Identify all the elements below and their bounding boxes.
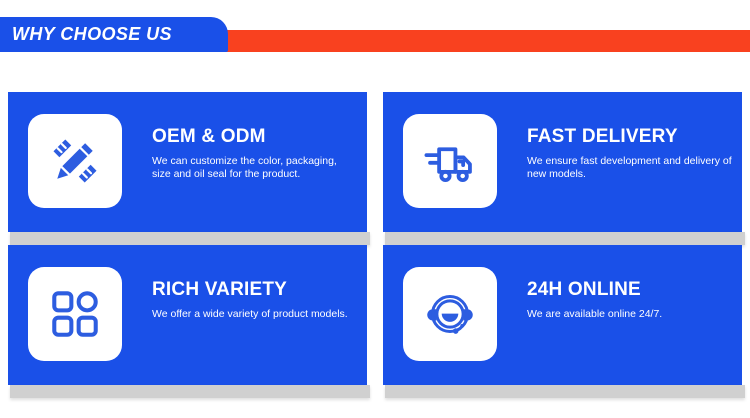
card-description: We are available online 24/7. [527, 308, 732, 321]
feature-card-rich-variety[interactable]: RICH VARIETY We offer a wide variety of … [8, 245, 367, 385]
delivery-truck-icon [421, 132, 479, 190]
icon-tile [28, 267, 122, 361]
icon-tile [403, 114, 497, 208]
header-banner: WHY CHOOSE US [0, 0, 750, 60]
feature-card-oem-odm[interactable]: OEM & ODM We can customize the color, pa… [8, 92, 367, 232]
icon-tile [403, 267, 497, 361]
card-text-block: FAST DELIVERY We ensure fast development… [527, 126, 732, 181]
card-title: RICH VARIETY [152, 279, 357, 301]
headset-support-icon [422, 286, 478, 342]
pencil-ruler-icon [48, 134, 102, 188]
grid-shapes-icon [49, 288, 101, 340]
card-description: We ensure fast development and delivery … [527, 155, 732, 181]
card-text-block: OEM & ODM We can customize the color, pa… [152, 126, 357, 181]
icon-tile [28, 114, 122, 208]
card-description: We can customize the color, packaging, s… [152, 155, 357, 181]
card-title: OEM & ODM [152, 126, 357, 148]
card-title: FAST DELIVERY [527, 126, 732, 148]
feature-cards-grid: OEM & ODM We can customize the color, pa… [8, 92, 742, 385]
feature-card-24h-online[interactable]: 24H ONLINE We are available online 24/7. [383, 245, 742, 385]
card-description: We offer a wide variety of product model… [152, 308, 357, 321]
card-title: 24H ONLINE [527, 279, 732, 301]
header-red-accent-bar [200, 30, 750, 52]
page-title: WHY CHOOSE US [12, 21, 222, 47]
feature-card-fast-delivery[interactable]: FAST DELIVERY We ensure fast development… [383, 92, 742, 232]
card-text-block: 24H ONLINE We are available online 24/7. [527, 279, 732, 321]
card-text-block: RICH VARIETY We offer a wide variety of … [152, 279, 357, 321]
